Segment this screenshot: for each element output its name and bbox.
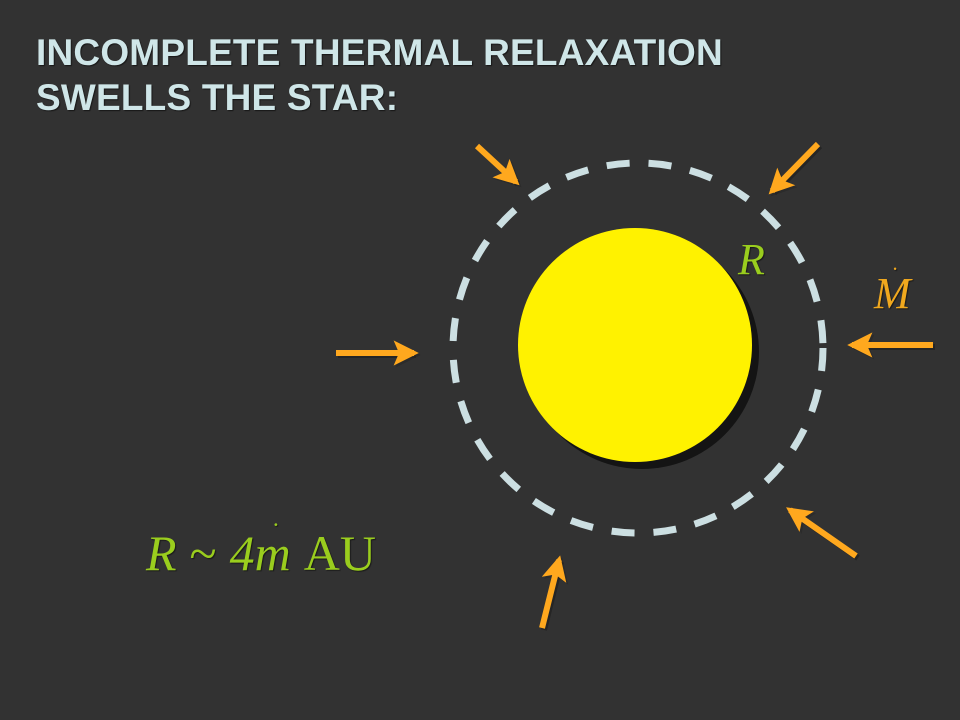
arrow-top-left <box>477 146 516 182</box>
mdot-overdot: ˙ <box>891 265 899 288</box>
formula-unit: AU <box>304 525 376 581</box>
formula-coefficient: 4 <box>230 525 255 581</box>
slide-canvas: INCOMPLETE THERMAL RELAXATION SWELLS THE… <box>0 0 960 720</box>
arrow-top-right <box>772 144 818 191</box>
mass-accretion-rate-label: ˙ M <box>874 272 911 316</box>
mdot-glyph: ˙ M <box>874 272 911 316</box>
radius-label: R <box>738 238 765 282</box>
star-envelope-diagram <box>0 0 960 720</box>
yellow-star-disk <box>518 228 752 462</box>
radius-formula: R~4˙mAU <box>146 528 376 578</box>
formula-mdot-overdot: ˙ <box>271 520 280 546</box>
formula-mdot-glyph: ˙m <box>255 528 291 578</box>
formula-relation: ~ <box>190 525 217 581</box>
formula-radius-symbol: R <box>146 525 177 581</box>
radius-symbol: R <box>738 235 765 284</box>
arrow-bottom <box>542 560 559 628</box>
arrow-bottom-right <box>790 510 856 556</box>
